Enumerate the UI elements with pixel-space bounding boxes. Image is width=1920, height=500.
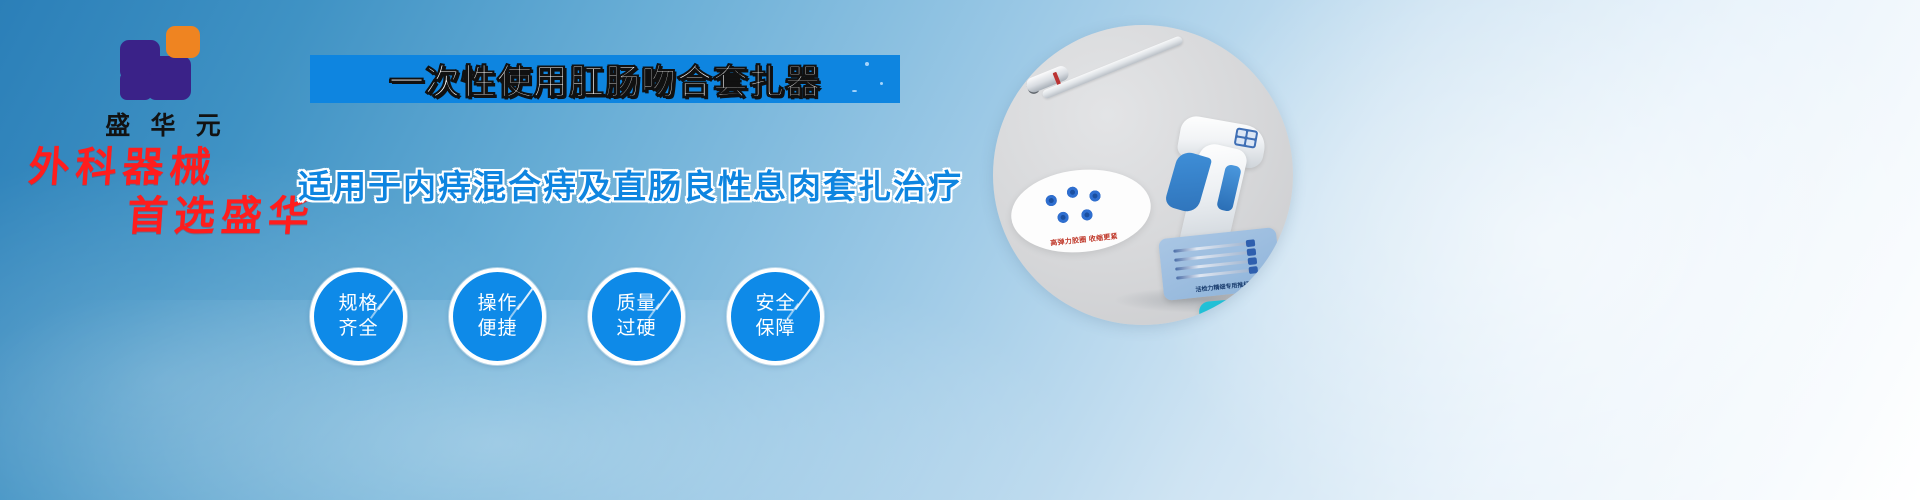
feature-label-line2: 保障 <box>755 317 795 341</box>
feature-label-line2: 齐全 <box>338 317 378 341</box>
package-tube <box>1216 311 1293 325</box>
accessory-rings-disc: 高弹力胶圈 收缩更紧 <box>1007 163 1155 259</box>
rings-caption: 高弹力胶圈 收缩更紧 <box>1014 228 1154 253</box>
logo-square-b <box>147 56 191 100</box>
feature-label-line2: 过硬 <box>616 317 656 341</box>
needle-icon <box>1176 269 1254 280</box>
rubber-ring-icon <box>1089 190 1101 202</box>
device-keypad <box>1234 127 1259 149</box>
feature-circle-quality[interactable]: 质量 过硬 <box>588 268 685 365</box>
sparkle-icon <box>880 82 883 85</box>
logo-square-accent <box>166 26 200 58</box>
rubber-ring-icon <box>1066 186 1078 198</box>
headline-bar: 一次性使用肛肠吻合套扎器 <box>310 55 900 103</box>
accessory-needles-card: 活检力精细专用推杆 <box>1158 227 1282 301</box>
feature-circle-list: 规格 齐全 操作 便捷 质量 过硬 安全 保障 <box>310 268 824 365</box>
rubber-ring-icon <box>1057 211 1069 223</box>
brand-name: 盛 华 元 <box>78 106 248 142</box>
sparkle-icon <box>852 90 857 92</box>
product-photo[interactable]: 高弹力胶圈 收缩更紧 活检力精细专用推杆 <box>993 25 1293 325</box>
logo-square-c <box>120 72 152 100</box>
rubber-ring-icon <box>1081 209 1093 221</box>
brand-logo[interactable]: 盛 华 元 <box>78 26 248 142</box>
rubber-ring-icon <box>1045 195 1057 207</box>
feature-label-line2: 便捷 <box>477 317 517 341</box>
page-title: 一次性使用肛肠吻合套扎器 <box>389 54 821 105</box>
headline-subtitle: 适用于内痔混合痔及直肠良性息肉套扎治疗 <box>298 160 918 208</box>
feature-circle-operation[interactable]: 操作 便捷 <box>449 268 546 365</box>
feature-circle-safety[interactable]: 安全 保障 <box>727 268 824 365</box>
sparkle-icon <box>865 62 869 66</box>
package-cap <box>1291 309 1293 325</box>
logo-mark-icon <box>120 26 206 100</box>
feature-circle-specs[interactable]: 规格 齐全 <box>310 268 407 365</box>
